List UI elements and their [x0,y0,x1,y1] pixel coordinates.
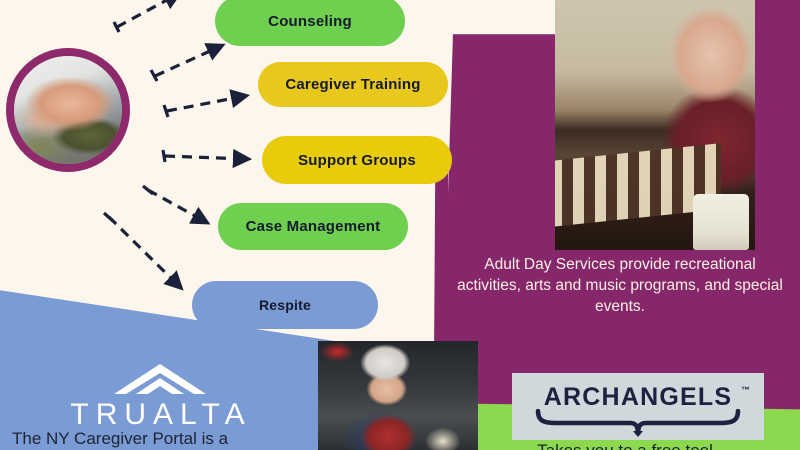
arrow-to-counseling [155,46,221,76]
service-pill-label: Caregiver Training [285,76,420,93]
arrow-tail-bar-6 [104,213,113,221]
trualta-chevron-icon [110,362,210,396]
trademark-symbol: ™ [741,385,750,395]
coffee-mug-detail [693,194,749,250]
man-playing-chess-photo [555,0,755,250]
arrow-to-caregiver-training [167,96,245,111]
arrow-tail-bar-3 [164,105,168,117]
service-pill-counseling[interactable]: Counseling [215,0,405,46]
archangels-brace-icon [534,409,742,437]
service-pill-respite[interactable]: Respite [192,281,378,329]
service-pill-caregiver-training[interactable]: Caregiver Training [258,62,448,107]
arrow-tail-bar-1 [114,22,119,32]
arrow-to-counseling-upper [117,0,178,27]
woman-photo-image [318,341,478,450]
arrow-tail-bar-5 [143,186,153,194]
archangels-logo-box: ARCHANGELS ™ [512,373,764,440]
service-pill-case-management[interactable]: Case Management [218,203,408,250]
service-pill-label: Case Management [246,218,381,235]
arrow-tail-bar-4 [163,150,165,162]
trualta-wordmark: TRUALTA [36,398,286,432]
arrow-to-support-groups [165,156,247,159]
slide-canvas: Counseling Caregiver Training Support Gr… [0,0,800,450]
arrow-to-case-management [148,190,206,222]
service-pill-label: Support Groups [298,152,416,169]
service-pill-label: Respite [259,297,311,313]
adult-day-services-caption: Adult Day Services provide recreational … [455,255,785,318]
archangels-caption: Takes you to a free tool [450,441,800,450]
archangels-wordmark: ARCHANGELS [512,383,764,412]
service-pill-label: Counseling [268,13,352,30]
service-pill-support-groups[interactable]: Support Groups [262,136,452,184]
arrow-to-respite [109,217,180,287]
trualta-caption: The NY Caregiver Portal is a [12,428,312,449]
smiling-woman-with-dog-photo [318,341,478,450]
